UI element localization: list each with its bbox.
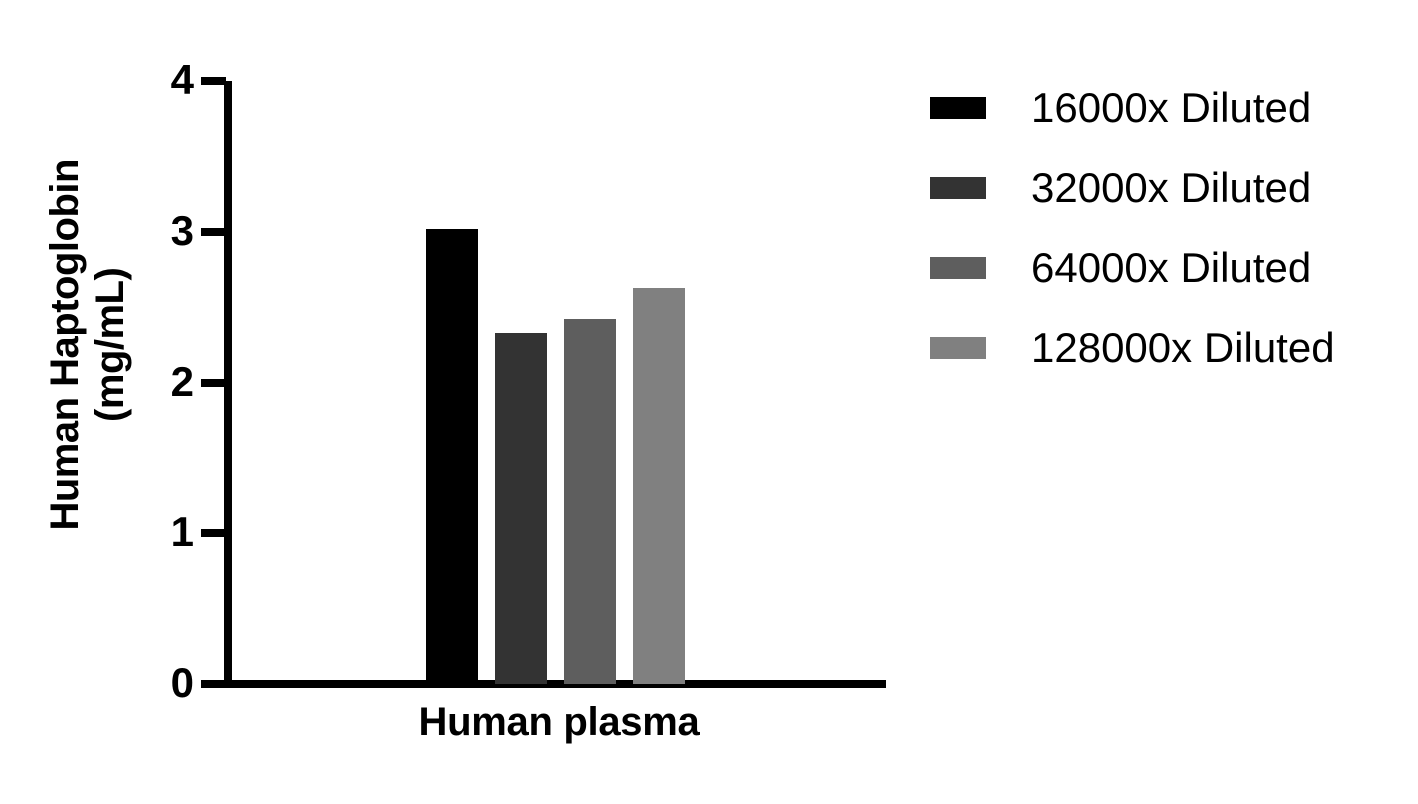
y-axis-tick	[201, 77, 226, 85]
bar	[633, 288, 685, 684]
bar	[426, 229, 478, 684]
legend-swatch-icon	[930, 177, 986, 199]
y-axis-title: Human Haptoglobin (mg/mL)	[0, 0, 175, 690]
y-axis-tick	[201, 680, 226, 688]
legend-item[interactable]: 16000x Diluted	[930, 68, 1400, 148]
legend-item-label: 128000x Diluted	[1031, 327, 1335, 369]
legend-item[interactable]: 64000x Diluted	[930, 228, 1400, 308]
x-axis-title: Human plasma	[232, 700, 886, 745]
bar	[495, 333, 547, 684]
legend-swatch-icon	[930, 337, 986, 359]
legend-item-label: 32000x Diluted	[1031, 167, 1311, 209]
bar-chart-figure: Human Haptoglobin (mg/mL) 43210 Human pl…	[0, 0, 1418, 804]
y-axis-tick	[201, 529, 226, 537]
y-axis-tick-label: 1	[150, 511, 194, 553]
legend-item-label: 16000x Diluted	[1031, 87, 1311, 129]
legend-item-label: 64000x Diluted	[1031, 247, 1311, 289]
y-axis-title-line1: Human Haptoglobin	[43, 159, 88, 530]
legend-item[interactable]: 128000x Diluted	[930, 308, 1400, 388]
y-axis-tick-label: 4	[150, 59, 194, 101]
y-axis-tick-label: 2	[150, 361, 194, 403]
y-axis-tick-label: 3	[150, 210, 194, 252]
legend-swatch-icon	[930, 257, 986, 279]
legend-item[interactable]: 32000x Diluted	[930, 148, 1400, 228]
y-axis-tick	[201, 379, 226, 387]
y-axis-tick-label: 0	[150, 662, 194, 704]
y-axis-tick	[201, 228, 226, 236]
bar	[564, 319, 616, 684]
legend-swatch-icon	[930, 97, 986, 119]
y-axis-title-line2: (mg/mL)	[88, 159, 133, 530]
chart-legend: 16000x Diluted32000x Diluted64000x Dilut…	[930, 68, 1400, 388]
plot-area	[232, 81, 886, 684]
